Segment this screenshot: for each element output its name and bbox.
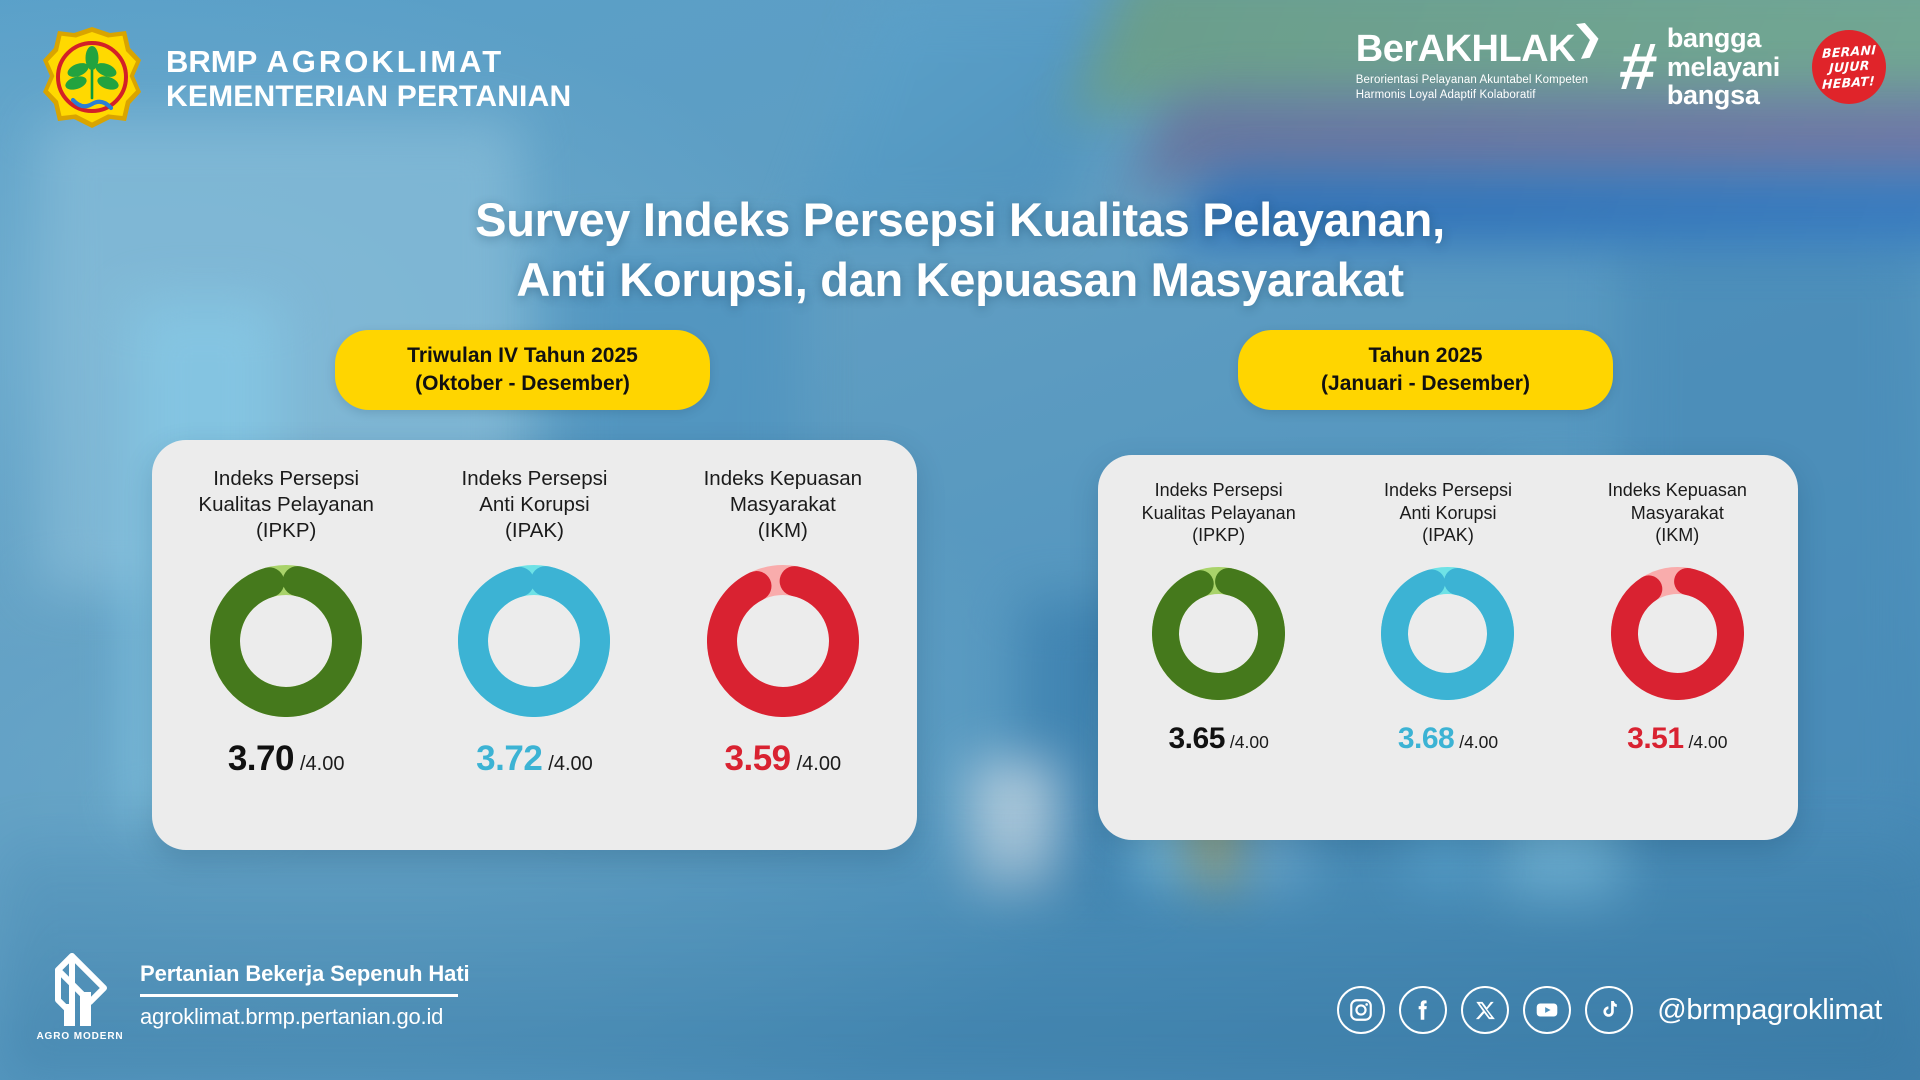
metric-2: Indeks PersepsiAnti Korupsi(IPAK)3.68/4.…: [1340, 479, 1555, 756]
metric-label: Indeks KepuasanMasyarakat(IKM): [1608, 479, 1747, 547]
metrics-card-tahunan: Indeks PersepsiKualitas Pelayanan(IPKP)3…: [1098, 455, 1798, 840]
metric-value-denominator: /4.00: [1459, 732, 1498, 753]
period-badge-triwulan: Triwulan IV Tahun 2025 (Oktober - Desemb…: [335, 330, 710, 410]
metric-value-number: 3.65: [1168, 722, 1224, 756]
metric-label-line3: (IPKP): [1142, 524, 1296, 547]
metric-label: Indeks PersepsiAnti Korupsi(IPAK): [462, 466, 608, 543]
bangga-line2: melayani: [1667, 53, 1780, 82]
metric-value-denominator: /4.00: [548, 753, 592, 776]
berani-line3: HEBAT!: [1822, 73, 1875, 92]
berakhlak-strong: AKHLAK: [1418, 28, 1575, 70]
donut-arc: [1157, 571, 1281, 695]
metric-label-line2: Anti Korupsi: [1384, 502, 1512, 525]
page-title-line1: Survey Indeks Persepsi Kualitas Pelayana…: [0, 190, 1920, 250]
berakhlak-subtitle-line2: Harmonis Loyal Adaptif Kolaboratif: [1356, 88, 1588, 104]
instagram-icon[interactable]: [1337, 986, 1385, 1034]
brand-secondary: KEMENTERIAN PERTANIAN: [166, 82, 571, 113]
metric-label-line2: Masyarakat: [704, 492, 862, 518]
metric-label-line3: (IPKP): [198, 518, 374, 544]
period-badge-line1: Triwulan IV Tahun 2025: [369, 342, 676, 370]
metric-label-line1: Indeks Persepsi: [462, 466, 608, 492]
hashtag-icon: #: [1617, 37, 1660, 96]
donut-arc: [1615, 571, 1739, 695]
metric-value: 3.72/4.00: [476, 739, 593, 779]
period-badge-tahunan: Tahun 2025 (Januari - Desember): [1238, 330, 1613, 410]
x-twitter-icon[interactable]: [1461, 986, 1509, 1034]
metric-label-line3: (IPAK): [462, 518, 608, 544]
metric-value-denominator: /4.00: [797, 753, 841, 776]
metrics-card-triwulan: Indeks PersepsiKualitas Pelayanan(IPKP)3…: [152, 440, 917, 850]
bangga-line3: bangsa: [1667, 81, 1780, 110]
agro-modern-logo-icon: AGRO MODERN: [42, 948, 118, 1042]
page-title-line2: Anti Korupsi, dan Kepuasan Masyarakat: [0, 250, 1920, 310]
period-badge-line1: Tahun 2025: [1272, 342, 1579, 370]
donut-chart: [1611, 567, 1744, 700]
social-links: @brmpagroklimat: [1337, 986, 1882, 1034]
donut-chart: [210, 565, 362, 717]
period-badge-line2: (Januari - Desember): [1272, 370, 1579, 398]
donut-chart: [458, 565, 610, 717]
metric-3: Indeks KepuasanMasyarakat(IKM)3.51/4.00: [1570, 479, 1785, 756]
metric-label-line3: (IKM): [704, 518, 862, 544]
donut-chart: [1381, 567, 1514, 700]
metric-2: Indeks PersepsiAnti Korupsi(IPAK)3.72/4.…: [417, 466, 652, 779]
berakhlak-subtitle-line1: Berorientasi Pelayanan Akuntabel Kompete…: [1356, 73, 1588, 89]
metric-value-number: 3.59: [725, 739, 791, 779]
metric-label-line2: Masyarakat: [1608, 502, 1747, 525]
metric-label: Indeks KepuasanMasyarakat(IKM): [704, 466, 862, 543]
metric-label-line1: Indeks Persepsi: [1142, 479, 1296, 502]
bangga-line1: bangga: [1667, 24, 1780, 53]
metric-value-denominator: /4.00: [1230, 732, 1269, 753]
tiktok-icon[interactable]: [1585, 986, 1633, 1034]
berani-jujur-hebat-badge: BERANI JUJUR HEBAT!: [1812, 30, 1886, 104]
agro-modern-wordmark: AGRO MODERN: [36, 1031, 123, 1042]
metric-label-line1: Indeks Kepuasan: [1608, 479, 1747, 502]
metric-value-denominator: /4.00: [300, 753, 344, 776]
metric-label-line1: Indeks Kepuasan: [704, 466, 862, 492]
metric-value: 3.65/4.00: [1168, 722, 1268, 756]
bangga-melayani-bangsa-logo: # bangga melayani bangsa: [1620, 24, 1780, 110]
social-handle: @brmpagroklimat: [1657, 994, 1882, 1027]
metric-label-line1: Indeks Persepsi: [1384, 479, 1512, 502]
brand-primary-bold: BRMP: [166, 44, 257, 79]
footer-url[interactable]: agroklimat.brmp.pertanian.go.id: [140, 1004, 470, 1030]
metric-value-denominator: /4.00: [1689, 732, 1728, 753]
brand-primary-light: AGROKLIMAT: [266, 44, 504, 79]
metric-value-number: 3.68: [1398, 722, 1454, 756]
metric-label-line1: Indeks Persepsi: [198, 466, 374, 492]
metric-label: Indeks PersepsiAnti Korupsi(IPAK): [1384, 479, 1512, 547]
metric-3: Indeks KepuasanMasyarakat(IKM)3.59/4.00: [665, 466, 900, 779]
berakhlak-logo: BerAKHLAK ❯ Berorientasi Pelayanan Akunt…: [1356, 30, 1588, 104]
metric-value: 3.59/4.00: [725, 739, 842, 779]
footer-branding: AGRO MODERN Pertanian Bekerja Sepenuh Ha…: [42, 948, 470, 1042]
footer-tagline: Pertanian Bekerja Sepenuh Hati: [140, 961, 470, 987]
metric-value-number: 3.72: [476, 739, 542, 779]
metric-label-line3: (IPAK): [1384, 524, 1512, 547]
youtube-icon[interactable]: [1523, 986, 1571, 1034]
donut-arc: [1386, 571, 1510, 695]
page-title: Survey Indeks Persepsi Kualitas Pelayana…: [0, 190, 1920, 310]
facebook-icon[interactable]: [1399, 986, 1447, 1034]
metric-1: Indeks PersepsiKualitas Pelayanan(IPKP)3…: [169, 466, 404, 779]
kementan-crest-icon: [40, 24, 144, 134]
metric-value: 3.68/4.00: [1398, 722, 1498, 756]
footer-divider: [140, 994, 458, 997]
header: BRMP AGROKLIMAT KEMENTERIAN PERTANIAN Be…: [0, 0, 1920, 150]
berakhlak-prefix: Ber: [1356, 28, 1418, 70]
metric-label-line2: Anti Korupsi: [462, 492, 608, 518]
metric-label-line3: (IKM): [1608, 524, 1747, 547]
metric-1: Indeks PersepsiKualitas Pelayanan(IPKP)3…: [1111, 479, 1326, 756]
donut-chart: [1152, 567, 1285, 700]
metric-label-line2: Kualitas Pelayanan: [198, 492, 374, 518]
metric-value-number: 3.51: [1627, 722, 1683, 756]
donut-chart: [707, 565, 859, 717]
metric-value-number: 3.70: [228, 739, 294, 779]
metric-value: 3.70/4.00: [228, 739, 345, 779]
brand-lockup: BRMP AGROKLIMAT KEMENTERIAN PERTANIAN: [40, 24, 571, 134]
metric-value: 3.51/4.00: [1627, 722, 1727, 756]
chevron-right-icon: ❯: [1571, 16, 1605, 60]
metric-label: Indeks PersepsiKualitas Pelayanan(IPKP): [198, 466, 374, 543]
period-badge-line2: (Oktober - Desember): [369, 370, 676, 398]
partner-logos: BerAKHLAK ❯ Berorientasi Pelayanan Akunt…: [1356, 24, 1886, 110]
metric-label-line2: Kualitas Pelayanan: [1142, 502, 1296, 525]
metric-label: Indeks PersepsiKualitas Pelayanan(IPKP): [1142, 479, 1296, 547]
brand-text: BRMP AGROKLIMAT KEMENTERIAN PERTANIAN: [166, 46, 571, 112]
